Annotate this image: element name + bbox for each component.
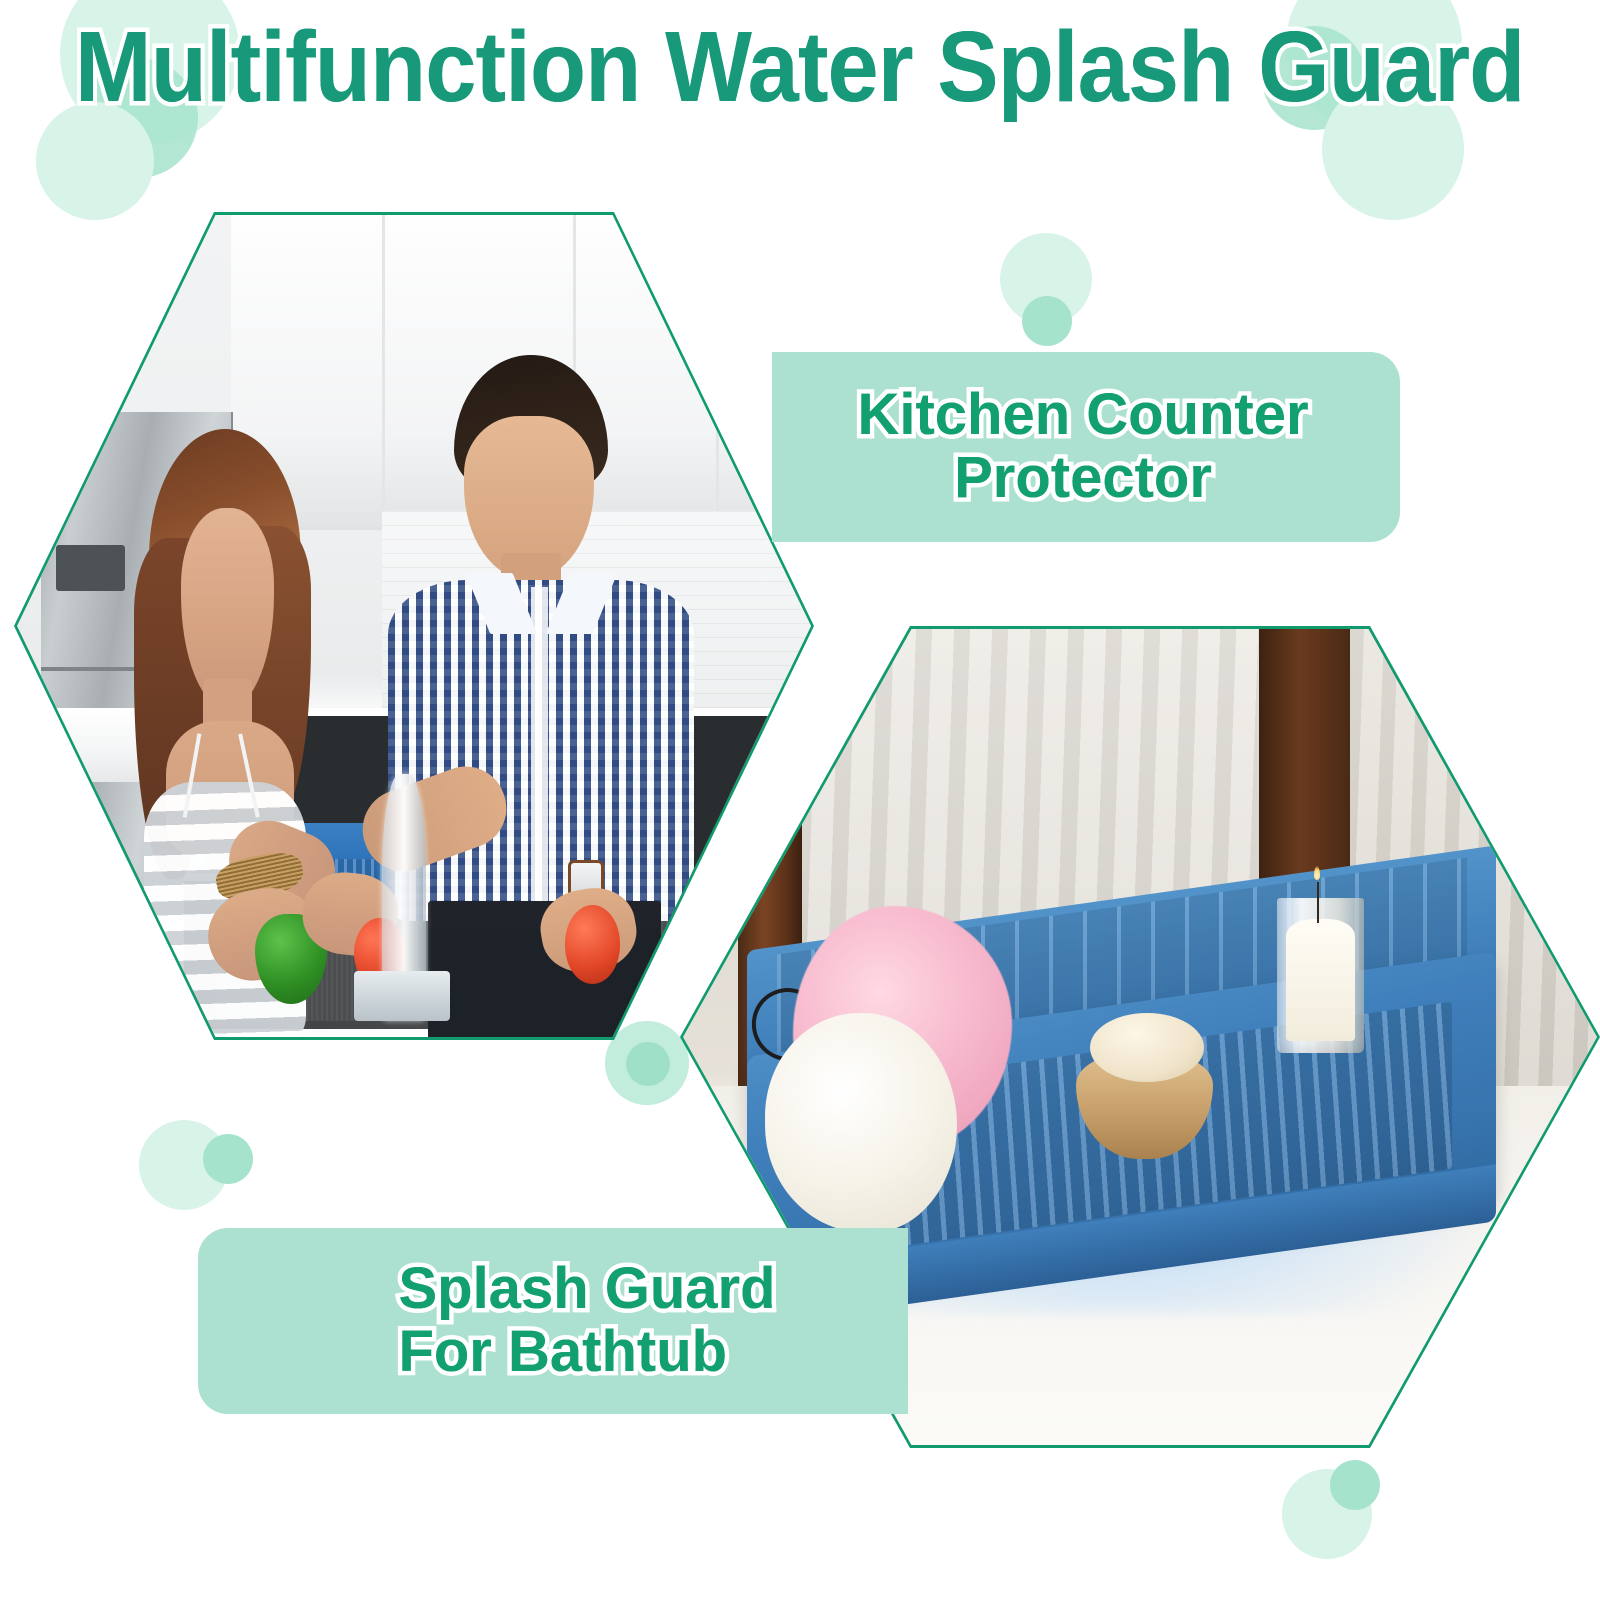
man-shirt-placket <box>531 587 548 914</box>
candle-flame-icon <box>1314 866 1320 880</box>
decor-circle-lower-right-mid <box>1330 1460 1380 1510</box>
candle-wick <box>1317 882 1319 923</box>
callout-kitchen-line-2-outline: Protector <box>857 447 1308 510</box>
cabinet-seam-3 <box>716 215 719 527</box>
page-title-outline: Multifunction Water Splash Guard <box>75 17 1524 117</box>
candle-wax <box>1286 919 1355 1041</box>
callout-kitchen-text-stack: Kitchen Counter Protector Kitchen Counte… <box>857 384 1308 509</box>
page-title: Multifunction Water Splash Guard Multifu… <box>0 8 1600 126</box>
callout-bath-text-stack: Splash Guard For Bathtub Splash Guard Fo… <box>340 1258 775 1383</box>
infographic-canvas: Multifunction Water Splash Guard Multifu… <box>0 0 1600 1600</box>
decor-circle-mid-left-inner <box>626 1042 670 1086</box>
decor-circle-lower-left-mid <box>203 1134 253 1184</box>
callout-kitchen-counter-protector[interactable]: Kitchen Counter Protector Kitchen Counte… <box>772 352 1400 542</box>
soap-bar <box>1090 1013 1204 1082</box>
decor-circle-lower-left-pale <box>139 1120 229 1210</box>
callout-bath-line-1-outline: Splash Guard <box>398 1258 775 1321</box>
callout-splash-guard-for-bathtub[interactable]: Splash Guard For Bathtub Splash Guard Fo… <box>198 1228 908 1414</box>
decor-circle-upper-mid-mid <box>1022 296 1072 346</box>
decor-circle-upper-mid-pale <box>1000 233 1092 325</box>
white-loofah <box>765 1013 957 1233</box>
decor-circle-lower-right-pale <box>1282 1469 1372 1559</box>
callout-kitchen-line-1-outline: Kitchen Counter <box>857 384 1308 447</box>
faucet-base <box>354 971 449 1020</box>
callout-bath-line-2-outline: For Bathtub <box>398 1321 775 1384</box>
tomato-held <box>565 905 621 983</box>
